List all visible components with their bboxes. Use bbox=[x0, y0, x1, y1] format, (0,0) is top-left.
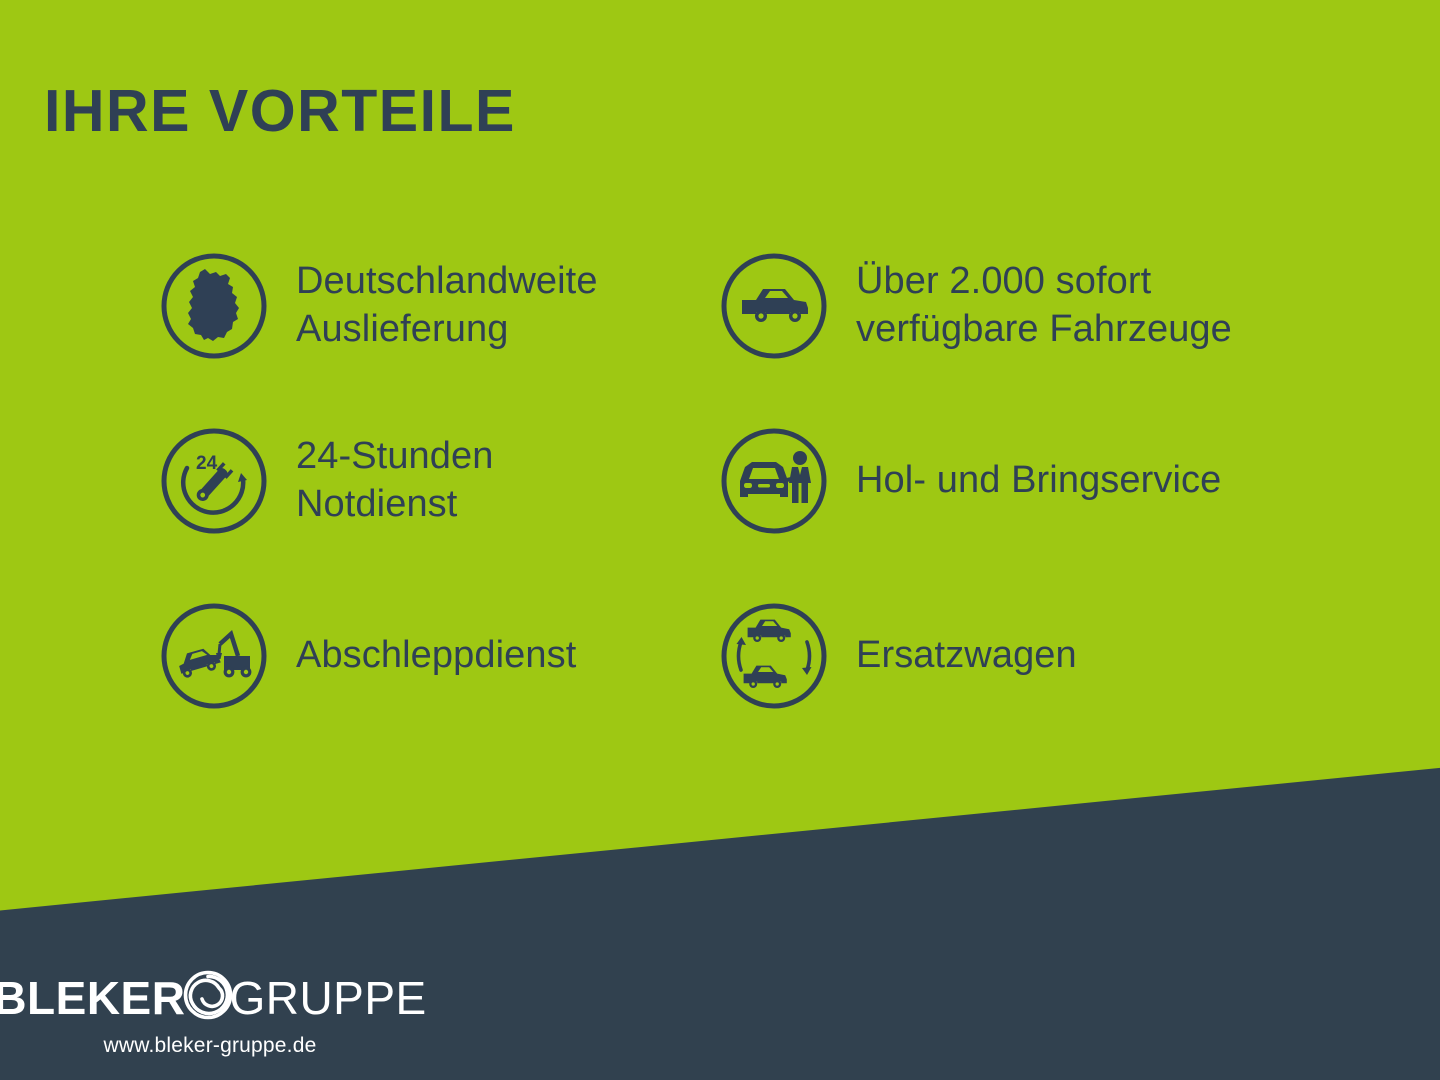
logo-text-bleker: BLEKER bbox=[0, 975, 185, 1021]
car-side-icon bbox=[718, 250, 830, 362]
germany-map-icon bbox=[158, 250, 270, 362]
list-item: Hol- und Bringservice bbox=[710, 393, 1440, 568]
svg-text:24: 24 bbox=[196, 453, 218, 474]
list-item-label: 24-Stunden Notdienst bbox=[296, 433, 494, 529]
car-with-driver-icon bbox=[718, 425, 830, 537]
spiral-icon bbox=[181, 968, 235, 1027]
24-hour-wrench-icon: 24 bbox=[158, 425, 270, 537]
list-item-label: Ersatzwagen bbox=[856, 632, 1077, 680]
logo-website-url: www.bleker-gruppe.de bbox=[104, 1034, 317, 1058]
list-item: 24 24-Stunden Notdienst bbox=[0, 393, 710, 568]
tow-truck-icon bbox=[158, 600, 270, 712]
list-item-label: Abschleppdienst bbox=[296, 632, 576, 680]
logo-text-gruppe: GRUPPE bbox=[229, 975, 426, 1021]
list-item: Deutschlandweite Auslieferung bbox=[0, 218, 710, 393]
car-exchange-icon bbox=[718, 600, 830, 712]
list-item: Abschleppdienst bbox=[0, 568, 710, 743]
list-item-label: Deutschlandweite Auslieferung bbox=[296, 258, 598, 354]
list-item: Ersatzwagen bbox=[710, 568, 1440, 743]
page-title: IHRE VORTEILE bbox=[44, 82, 516, 141]
benefits-list: Deutschlandweite Auslieferung Über 2.000… bbox=[0, 218, 1440, 743]
slide-canvas: IHRE VORTEILE Deutschlandweite Ausliefer… bbox=[0, 0, 1440, 1080]
list-item: Über 2.000 sofort verfügbare Fahrzeuge bbox=[710, 218, 1440, 393]
list-item-label: Hol- und Bringservice bbox=[856, 457, 1221, 505]
brand-logo: BLEKER GRUPPE www.bleker-gruppe.de bbox=[30, 968, 390, 1058]
list-item-label: Über 2.000 sofort verfügbare Fahrzeuge bbox=[856, 258, 1232, 354]
logo-wordmark: BLEKER GRUPPE bbox=[0, 968, 427, 1027]
